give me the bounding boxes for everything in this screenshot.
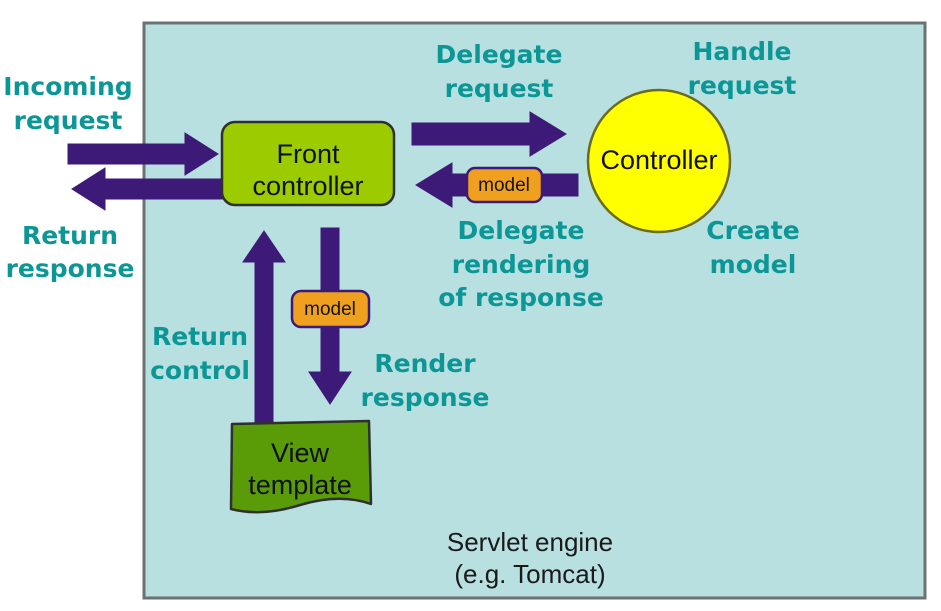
model-badge-view-label: model xyxy=(304,299,356,320)
model-badge-controller-label: model xyxy=(478,175,530,196)
node-front-controller[interactable]: Front controller xyxy=(222,122,394,205)
return-response-label-line1: Return xyxy=(22,221,118,250)
view-template-label-line1: View xyxy=(271,438,330,468)
front-controller-label-line2: controller xyxy=(252,171,363,201)
servlet-engine-caption-line2: (e.g. Tomcat) xyxy=(454,559,605,589)
render-response-label-line1: Render xyxy=(374,349,476,378)
delegate-request-label-line1: Delegate xyxy=(436,40,563,69)
badge-model-controller[interactable]: model xyxy=(467,168,542,202)
delegate-rendering-label-line2: rendering xyxy=(452,250,591,279)
controller-label: Controller xyxy=(600,145,717,175)
incoming-request-label-line1: Incoming xyxy=(3,72,132,101)
return-control-label-line2: control xyxy=(150,356,250,385)
create-model-label-line1: Create xyxy=(706,216,799,245)
return-control-label-line1: Return xyxy=(152,322,248,351)
node-view-template[interactable]: View template xyxy=(231,421,371,512)
label-delegate-rendering: Delegate rendering of response xyxy=(438,216,604,312)
incoming-request-label-line2: request xyxy=(14,106,123,135)
badge-model-view[interactable]: model xyxy=(292,291,369,327)
handle-request-label-line2: request xyxy=(688,71,797,100)
front-controller-label-line1: Front xyxy=(276,139,340,169)
render-response-label-line2: response xyxy=(361,383,490,412)
delegate-rendering-label-line3: of response xyxy=(438,283,604,312)
delegate-request-label-line2: request xyxy=(445,74,554,103)
return-response-label-line2: response xyxy=(6,254,135,283)
handle-request-label-line1: Handle xyxy=(692,37,791,66)
node-controller[interactable]: Controller xyxy=(588,90,730,232)
create-model-label-line2: model xyxy=(710,250,797,279)
view-template-label-line2: template xyxy=(248,470,352,500)
servlet-engine-caption-line1: Servlet engine xyxy=(447,527,613,557)
delegate-rendering-label-line1: Delegate xyxy=(458,216,585,245)
diagram-canvas: Front controller Controller View templat… xyxy=(0,0,941,611)
